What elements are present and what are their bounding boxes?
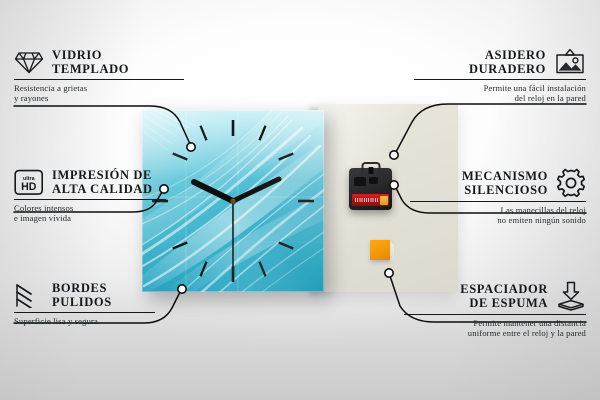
feature-header: ASIDERO DURADERO (414, 48, 586, 76)
feature-title: VIDRIO TEMPLADO (52, 48, 129, 76)
feature-underline (14, 312, 155, 313)
feature-header: ESPACIADOR DE ESPUMA (404, 281, 586, 311)
feature-description: Permite una fácil instalación del reloj … (414, 83, 586, 104)
svg-text:HD: HD (21, 181, 37, 193)
connector-vidrio-templado (14, 106, 190, 144)
feature-title: ESPACIADOR DE ESPUMA (460, 282, 548, 310)
feature-title: IMPRESIÓN DE ALTA CALIDAD (52, 168, 153, 196)
connector-dot-bordes-pulidos (178, 285, 186, 293)
connector-asidero (396, 104, 586, 152)
feature-underline (404, 314, 586, 315)
feature-description: Permite mantener una distancia uniforme … (404, 318, 586, 339)
foam-spacer-arrow-icon (556, 281, 586, 311)
feature-header: ultra HD IMPRESIÓN DE ALTA CALIDAD (14, 168, 166, 196)
feature-underline (410, 201, 586, 202)
feature-header: BORDES PULIDOS (14, 281, 155, 309)
wall-frame-hanger-icon (554, 48, 586, 76)
connector-dot-mecanismo (390, 181, 398, 189)
connector-dot-espaciador (385, 269, 393, 277)
feature-underline (414, 79, 586, 80)
feature-description: Las manecillas del reloj no emiten ningú… (410, 205, 586, 226)
feature-title: BORDES PULIDOS (52, 281, 112, 309)
feature-espaciador-de-espuma: ESPACIADOR DE ESPUMA Permite mantener un… (404, 281, 586, 339)
polished-edges-icon (14, 282, 44, 308)
infographic-canvas: VIDRIO TEMPLADO Resistencia a grietas y … (0, 0, 600, 400)
ultra-hd-icon: ultra HD (14, 169, 44, 196)
feature-bordes-pulidos: BORDES PULIDOS Superficie lisa y segura (14, 281, 155, 326)
connector-dot-vidrio-templado (187, 143, 195, 151)
diamond-icon (14, 49, 44, 75)
feature-header: VIDRIO TEMPLADO (14, 48, 184, 76)
feature-title: MECANISMO SILENCIOSO (462, 169, 548, 197)
gear-icon (556, 168, 586, 198)
feature-mecanismo-silencioso: MECANISMO SILENCIOSO Las manecillas del … (410, 168, 586, 226)
feature-description: Colores intensos e imagen vívida (14, 203, 166, 224)
feature-underline (14, 199, 166, 200)
feature-asidero-duradero: ASIDERO DURADERO Permite una fácil insta… (414, 48, 586, 104)
feature-header: MECANISMO SILENCIOSO (410, 168, 586, 198)
feature-underline (14, 79, 184, 80)
feature-description: Superficie lisa y segura (14, 316, 155, 326)
connector-dot-asidero (390, 151, 398, 159)
feature-description: Resistencia a grietas y rayones (14, 83, 184, 104)
feature-impresion-alta-calidad: ultra HD IMPRESIÓN DE ALTA CALIDAD Color… (14, 168, 166, 224)
feature-vidrio-templado: VIDRIO TEMPLADO Resistencia a grietas y … (14, 48, 184, 104)
feature-title: ASIDERO DURADERO (469, 48, 546, 76)
